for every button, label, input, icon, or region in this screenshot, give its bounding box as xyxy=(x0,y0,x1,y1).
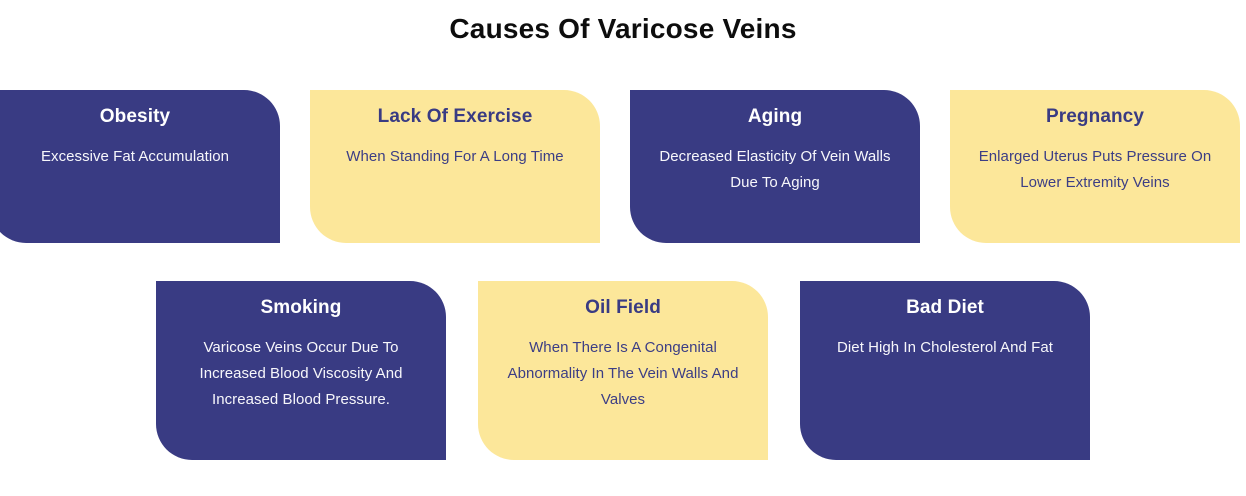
cause-card-title: Bad Diet xyxy=(906,295,984,321)
cause-card-aging: Aging Decreased Elasticity Of Vein Walls… xyxy=(630,90,920,243)
cause-card-title: Lack Of Exercise xyxy=(378,104,533,130)
cause-card-obesity: Obesity Excessive Fat Accumulation xyxy=(0,90,280,243)
cause-card-title: Aging xyxy=(748,104,802,130)
infographic-canvas: Causes Of Varicose Veins Obesity Excessi… xyxy=(0,0,1246,496)
card-row-1: Obesity Excessive Fat Accumulation Lack … xyxy=(0,90,1246,243)
cause-card-title: Obesity xyxy=(100,104,170,130)
cause-card-description: Excessive Fat Accumulation xyxy=(41,144,229,170)
card-row-2: Smoking Varicose Veins Occur Due To Incr… xyxy=(156,281,1090,460)
cause-card-description: Decreased Elasticity Of Vein Walls Due T… xyxy=(646,144,904,196)
cause-card-description: Diet High In Cholesterol And Fat xyxy=(837,335,1053,361)
cause-card-title: Smoking xyxy=(261,295,342,321)
cause-card-oil-field: Oil Field When There Is A Congenital Abn… xyxy=(478,281,768,460)
cause-card-title: Oil Field xyxy=(585,295,661,321)
cause-card-title: Pregnancy xyxy=(1046,104,1144,130)
cause-card-description: When There Is A Congenital Abnormality I… xyxy=(498,335,748,413)
cause-card-description: Varicose Veins Occur Due To Increased Bl… xyxy=(176,335,426,413)
cause-card-bad-diet: Bad Diet Diet High In Cholesterol And Fa… xyxy=(800,281,1090,460)
cause-card-description: Enlarged Uterus Puts Pressure On Lower E… xyxy=(966,144,1224,196)
cause-card-pregnancy: Pregnancy Enlarged Uterus Puts Pressure … xyxy=(950,90,1240,243)
cause-card-smoking: Smoking Varicose Veins Occur Due To Incr… xyxy=(156,281,446,460)
cause-card-description: When Standing For A Long Time xyxy=(346,144,563,170)
cause-card-lack-of-exercise: Lack Of Exercise When Standing For A Lon… xyxy=(310,90,600,243)
page-title: Causes Of Varicose Veins xyxy=(0,9,1246,49)
